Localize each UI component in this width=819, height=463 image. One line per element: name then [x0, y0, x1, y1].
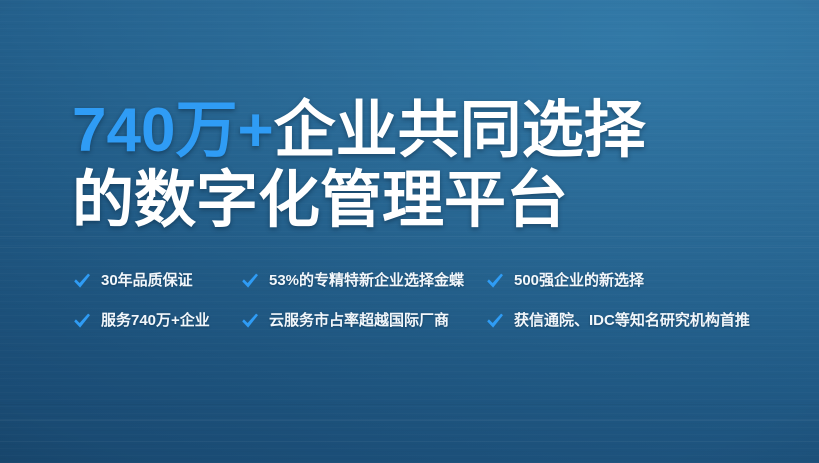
headline-line-1-rest: 企业共同选择: [274, 96, 646, 165]
feature-item: 服务740万+企业: [72, 308, 210, 334]
feature-label: 服务740万+企业: [101, 311, 210, 331]
feature-label: 30年品质保证: [101, 271, 193, 291]
headline-block: 740万+企业共同选择 的数字化管理平台: [72, 96, 772, 236]
feature-row: 30年品质保证 53%的专精特新企业选择金蝶: [72, 268, 772, 308]
check-icon: [72, 271, 92, 291]
check-icon: [240, 311, 260, 331]
headline-line-1: 740万+企业共同选择: [72, 96, 772, 166]
feature-label: 云服务市占率超越国际厂商: [269, 311, 449, 331]
feature-item: 获信通院、IDC等知名研究机构首推: [485, 308, 750, 334]
check-icon: [72, 311, 92, 331]
feature-label: 获信通院、IDC等知名研究机构首推: [514, 311, 750, 331]
banner-content: 740万+企业共同选择 的数字化管理平台 30年品质保证: [0, 0, 819, 463]
feature-item: 500强企业的新选择: [485, 268, 644, 294]
feature-label: 500强企业的新选择: [514, 271, 644, 291]
headline-line-2: 的数字化管理平台: [72, 166, 772, 236]
feature-label: 53%的专精特新企业选择金蝶: [269, 271, 464, 291]
headline-accent-number: 740万+: [72, 96, 274, 165]
promo-banner: 740万+企业共同选择 的数字化管理平台 30年品质保证: [0, 0, 819, 463]
feature-item: 30年品质保证: [72, 268, 193, 294]
feature-row: 服务740万+企业 云服务市占率超越国际厂商: [72, 308, 772, 348]
check-icon: [485, 311, 505, 331]
feature-item: 53%的专精特新企业选择金蝶: [240, 268, 464, 294]
feature-item: 云服务市占率超越国际厂商: [240, 308, 449, 334]
feature-list: 30年品质保证 53%的专精特新企业选择金蝶: [72, 268, 772, 348]
check-icon: [485, 271, 505, 291]
check-icon: [240, 271, 260, 291]
